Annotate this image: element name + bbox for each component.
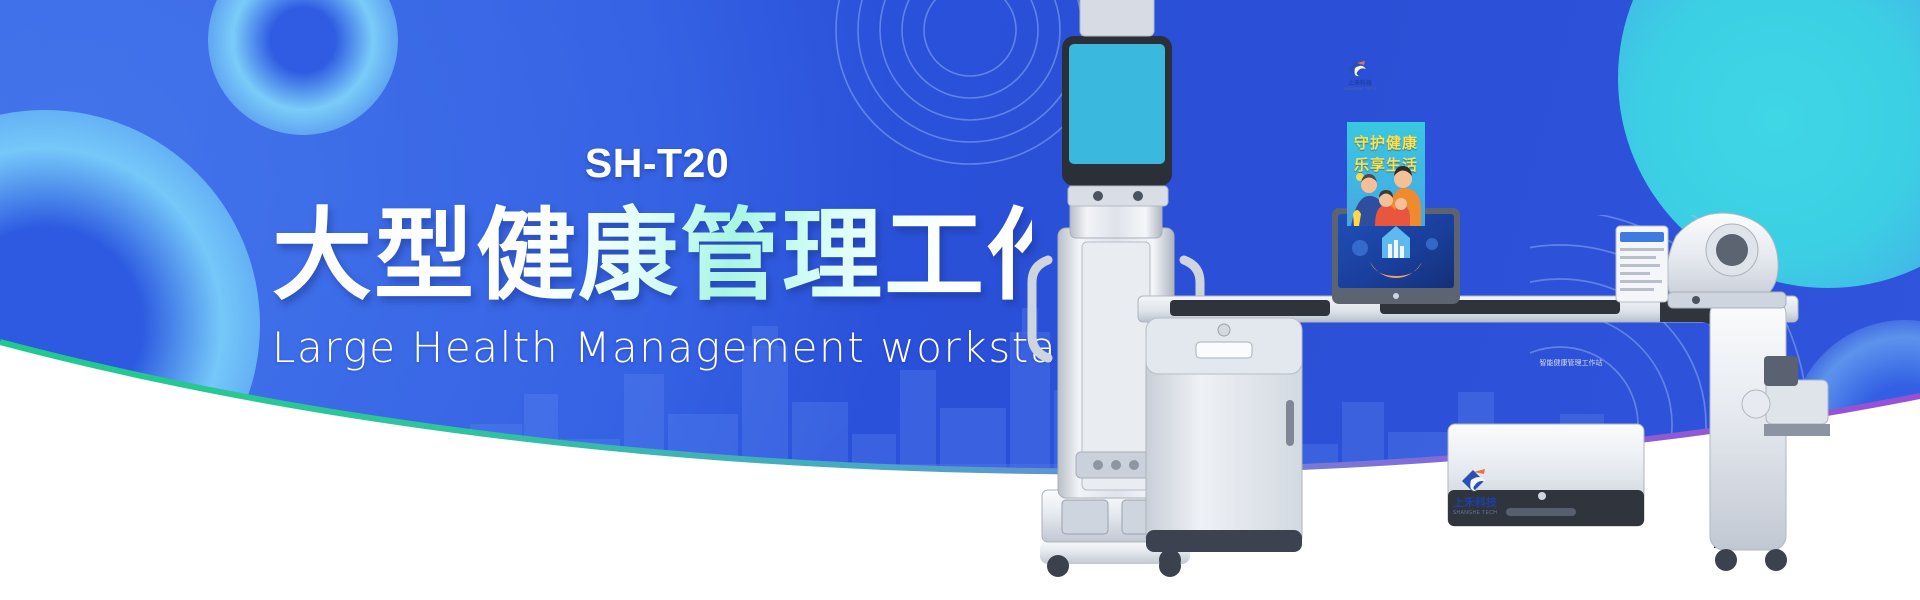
family-illustration-icon <box>1347 122 1425 226</box>
product-banner: SH-T20 大型健康管理工作站 Large Health Management… <box>0 0 1920 600</box>
bp-device <box>1616 213 1786 308</box>
page-title: 大型健康管理工作站 <box>272 203 1032 309</box>
page-subtitle: Large Health Management workstation <box>272 323 1032 372</box>
banner-text-block: SH-T20 大型健康管理工作站 Large Health Management… <box>272 140 1032 372</box>
cabinet-brand-name: 上禾科技 <box>1453 497 1497 509</box>
cabinet-brand-label: 上禾科技 SHANGHE TECH <box>1444 494 1506 516</box>
cabinet-brand-pinyin: SHANGHE TECH <box>1444 510 1506 516</box>
workstation-desk <box>1138 296 1830 571</box>
kiosk-brand-pinyin: SHANGHE TECH <box>1331 87 1389 91</box>
monitor-caption: 智能健康管理工作站 <box>1519 358 1623 368</box>
kiosk-brand-logo-icon <box>1344 58 1374 80</box>
cabinet-brand-logo-icon <box>1457 466 1497 496</box>
model-number: SH-T20 <box>282 140 1032 187</box>
kiosk-display: 守护健康 乐享生活 <box>1347 122 1425 226</box>
